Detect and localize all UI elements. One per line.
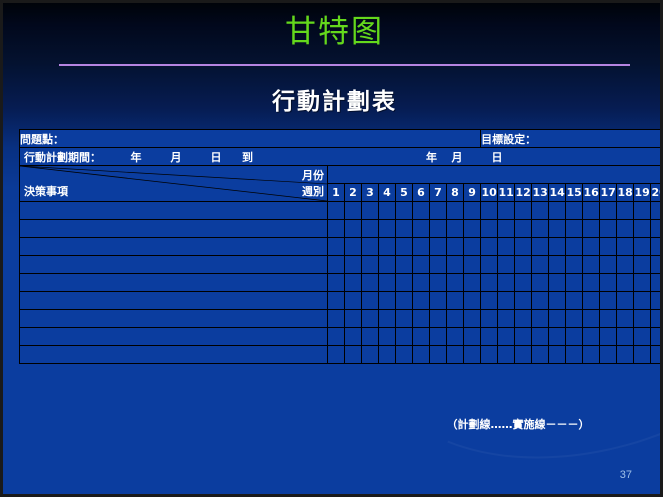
cell-week-15[interactable] — [566, 292, 583, 310]
cell-week-7[interactable] — [430, 346, 447, 364]
cell-week-11[interactable] — [498, 256, 515, 274]
cell-week-16[interactable] — [583, 274, 600, 292]
week-header-8: 8 — [447, 184, 464, 202]
cell-week-16[interactable] — [583, 328, 600, 346]
cell-week-6[interactable] — [413, 220, 430, 238]
cell-week-18[interactable] — [617, 292, 634, 310]
cell-week-4[interactable] — [379, 220, 396, 238]
cell-week-5[interactable] — [396, 292, 413, 310]
cell-week-10[interactable] — [481, 292, 498, 310]
table-row — [20, 256, 663, 274]
table-row — [20, 292, 663, 310]
cell-week-9[interactable] — [464, 202, 481, 220]
cell-week-18[interactable] — [617, 202, 634, 220]
cell-week-10[interactable] — [481, 256, 498, 274]
cell-week-10[interactable] — [481, 328, 498, 346]
cell-week-10[interactable] — [481, 238, 498, 256]
cell-week-6[interactable] — [413, 292, 430, 310]
cell-week-14[interactable] — [549, 328, 566, 346]
cell-week-17[interactable] — [600, 256, 617, 274]
cell-week-7[interactable] — [430, 310, 447, 328]
cell-week-1[interactable] — [328, 310, 345, 328]
cell-week-4[interactable] — [379, 256, 396, 274]
cell-week-8[interactable] — [447, 346, 464, 364]
end-year-label: 年 — [272, 149, 437, 165]
week-header-4: 4 — [379, 184, 396, 202]
cell-week-18[interactable] — [617, 220, 634, 238]
cell-week-2[interactable] — [345, 274, 362, 292]
cell-week-4[interactable] — [379, 310, 396, 328]
cell-week-15[interactable] — [566, 346, 583, 364]
cell-week-13[interactable] — [532, 274, 549, 292]
table-row — [20, 220, 663, 238]
cell-week-9[interactable] — [464, 238, 481, 256]
cell-week-13[interactable] — [532, 310, 549, 328]
table-row — [20, 310, 663, 328]
cell-week-15[interactable] — [566, 202, 583, 220]
period-connector: 到 — [236, 149, 272, 165]
cell-week-14[interactable] — [549, 238, 566, 256]
cell-week-3[interactable] — [362, 292, 379, 310]
slide-subtitle: 行動計劃表 — [3, 87, 663, 117]
cell-week-20[interactable] — [651, 274, 663, 292]
cell-week-10[interactable] — [481, 310, 498, 328]
cell-week-18[interactable] — [617, 256, 634, 274]
cell-week-5[interactable] — [396, 274, 413, 292]
cell-week-7[interactable] — [430, 274, 447, 292]
cell-week-10[interactable] — [481, 220, 498, 238]
cell-week-18[interactable] — [617, 328, 634, 346]
cell-week-17[interactable] — [600, 220, 617, 238]
week-header-11: 11 — [498, 184, 515, 202]
cell-week-14[interactable] — [549, 346, 566, 364]
cell-week-12[interactable] — [515, 310, 532, 328]
cell-week-5[interactable] — [396, 202, 413, 220]
cell-week-1[interactable] — [328, 202, 345, 220]
cell-week-1[interactable] — [328, 220, 345, 238]
cell-week-12[interactable] — [515, 238, 532, 256]
corner-item-label: 決策事項 — [24, 183, 68, 199]
cell-decision-item[interactable] — [20, 256, 328, 274]
slide-title: 甘特图 — [3, 11, 663, 53]
cell-week-4[interactable] — [379, 328, 396, 346]
cell-decision-item[interactable] — [20, 328, 328, 346]
cell-week-15[interactable] — [566, 328, 583, 346]
cell-decision-item[interactable] — [20, 310, 328, 328]
cell-week-4[interactable] — [379, 292, 396, 310]
cell-week-14[interactable] — [549, 202, 566, 220]
cell-week-4[interactable] — [379, 274, 396, 292]
cell-week-13[interactable] — [532, 220, 549, 238]
cell-week-19[interactable] — [634, 256, 651, 274]
cell-week-6[interactable] — [413, 256, 430, 274]
cell-week-3[interactable] — [362, 274, 379, 292]
cell-week-6[interactable] — [413, 274, 430, 292]
cell-decision-item[interactable] — [20, 346, 328, 364]
cell-week-16[interactable] — [583, 202, 600, 220]
cell-week-12[interactable] — [515, 292, 532, 310]
cell-week-13[interactable] — [532, 346, 549, 364]
cell-week-8[interactable] — [447, 292, 464, 310]
start-year-label: 年 — [116, 149, 156, 165]
cell-week-2[interactable] — [345, 346, 362, 364]
cell-week-12[interactable] — [515, 220, 532, 238]
row-month-header: 月份週別決策事項負責人成本 — [20, 166, 663, 184]
cell-week-12[interactable] — [515, 274, 532, 292]
cell-week-8[interactable] — [447, 310, 464, 328]
cell-week-5[interactable] — [396, 310, 413, 328]
cell-week-2[interactable] — [345, 220, 362, 238]
week-header-3: 3 — [362, 184, 379, 202]
week-header-13: 13 — [532, 184, 549, 202]
cell-week-2[interactable] — [345, 310, 362, 328]
cell-week-15[interactable] — [566, 256, 583, 274]
legend-footnote: （計劃線……實施線－－－） — [403, 416, 633, 432]
cell-week-9[interactable] — [464, 274, 481, 292]
cell-corner-header: 月份週別決策事項 — [20, 166, 328, 202]
cell-week-10[interactable] — [481, 274, 498, 292]
cell-week-13[interactable] — [532, 256, 549, 274]
end-day-label: 日 — [477, 149, 517, 165]
cell-week-2[interactable] — [345, 292, 362, 310]
cell-week-8[interactable] — [447, 274, 464, 292]
cell-week-20[interactable] — [651, 292, 663, 310]
cell-week-8[interactable] — [447, 202, 464, 220]
week-header-1: 1 — [328, 184, 345, 202]
cell-week-11[interactable] — [498, 310, 515, 328]
cell-week-14[interactable] — [549, 220, 566, 238]
cell-week-16[interactable] — [583, 292, 600, 310]
cell-week-19[interactable] — [634, 310, 651, 328]
cell-week-17[interactable] — [600, 346, 617, 364]
cell-week-14[interactable] — [549, 274, 566, 292]
cell-week-20[interactable] — [651, 220, 663, 238]
cell-week-11[interactable] — [498, 346, 515, 364]
cell-week-20[interactable] — [651, 328, 663, 346]
cell-week-5[interactable] — [396, 346, 413, 364]
week-header-7: 7 — [430, 184, 447, 202]
week-header-6: 6 — [413, 184, 430, 202]
week-header-2: 2 — [345, 184, 362, 202]
cell-week-14[interactable] — [549, 256, 566, 274]
cell-week-19[interactable] — [634, 202, 651, 220]
table-row — [20, 238, 663, 256]
table-row — [20, 346, 663, 364]
cell-week-13[interactable] — [532, 292, 549, 310]
cell-week-17[interactable] — [600, 310, 617, 328]
week-header-15: 15 — [566, 184, 583, 202]
cell-week-16[interactable] — [583, 256, 600, 274]
cell-week-5[interactable] — [396, 256, 413, 274]
cell-week-3[interactable] — [362, 202, 379, 220]
cell-week-16[interactable] — [583, 238, 600, 256]
table-row — [20, 202, 663, 220]
cell-week-14[interactable] — [549, 310, 566, 328]
cell-week-9[interactable] — [464, 256, 481, 274]
cell-week-11[interactable] — [498, 328, 515, 346]
cell-week-11[interactable] — [498, 202, 515, 220]
cell-week-16[interactable] — [583, 346, 600, 364]
row-plan-period: 行動計劃期間：年月日到年月日 — [20, 148, 663, 166]
cell-week-9[interactable] — [464, 220, 481, 238]
cell-week-17[interactable] — [600, 328, 617, 346]
start-month-label: 月 — [156, 149, 196, 165]
cell-week-17[interactable] — [600, 202, 617, 220]
cell-week-18[interactable] — [617, 346, 634, 364]
cell-week-7[interactable] — [430, 292, 447, 310]
week-header-20: 20 — [651, 184, 663, 202]
cell-week-20[interactable] — [651, 310, 663, 328]
cell-week-19[interactable] — [634, 274, 651, 292]
week-header-16: 16 — [583, 184, 600, 202]
cell-week-13[interactable] — [532, 202, 549, 220]
page-number: 37 — [620, 469, 632, 481]
cell-week-8[interactable] — [447, 220, 464, 238]
week-header-5: 5 — [396, 184, 413, 202]
cell-week-16[interactable] — [583, 310, 600, 328]
cell-week-14[interactable] — [549, 292, 566, 310]
cell-week-4[interactable] — [379, 238, 396, 256]
cell-week-2[interactable] — [345, 202, 362, 220]
cell-week-5[interactable] — [396, 328, 413, 346]
cell-week-9[interactable] — [464, 346, 481, 364]
cell-week-8[interactable] — [447, 238, 464, 256]
cell-goal-setting[interactable]: 目標設定： — [481, 130, 663, 148]
cell-week-7[interactable] — [430, 256, 447, 274]
cell-week-17[interactable] — [600, 238, 617, 256]
table-row — [20, 274, 663, 292]
cell-week-3[interactable] — [362, 256, 379, 274]
cell-week-6[interactable] — [413, 202, 430, 220]
cell-week-9[interactable] — [464, 328, 481, 346]
week-header-19: 19 — [634, 184, 651, 202]
cell-week-1[interactable] — [328, 238, 345, 256]
slide-canvas: 甘特图 行動計劃表 問題點：目標設定：行動計劃期間：年月日到年月日月份週別決策事… — [0, 0, 663, 497]
corner-month-label: 月份 — [302, 167, 324, 183]
cell-decision-item[interactable] — [20, 220, 328, 238]
cell-week-12[interactable] — [515, 346, 532, 364]
cell-week-15[interactable] — [566, 274, 583, 292]
cell-week-2[interactable] — [345, 328, 362, 346]
cell-week-1[interactable] — [328, 292, 345, 310]
cell-week-10[interactable] — [481, 346, 498, 364]
cell-week-20[interactable] — [651, 346, 663, 364]
cell-week-18[interactable] — [617, 274, 634, 292]
cell-week-1[interactable] — [328, 346, 345, 364]
start-day-label: 日 — [196, 149, 236, 165]
cell-week-6[interactable] — [413, 346, 430, 364]
cell-week-7[interactable] — [430, 238, 447, 256]
cell-decision-item[interactable] — [20, 238, 328, 256]
cell-week-13[interactable] — [532, 238, 549, 256]
cell-week-2[interactable] — [345, 256, 362, 274]
table-row — [20, 328, 663, 346]
cell-week-19[interactable] — [634, 346, 651, 364]
cell-week-3[interactable] — [362, 238, 379, 256]
cell-week-20[interactable] — [651, 202, 663, 220]
end-month-label: 月 — [437, 149, 477, 165]
cell-week-9[interactable] — [464, 310, 481, 328]
cell-week-18[interactable] — [617, 238, 634, 256]
cell-week-19[interactable] — [634, 328, 651, 346]
cell-plan-period[interactable]: 行動計劃期間：年月日到年月日 — [20, 148, 663, 166]
week-header-10: 10 — [481, 184, 498, 202]
cell-week-20[interactable] — [651, 238, 663, 256]
cell-decision-item[interactable] — [20, 292, 328, 310]
cell-week-9[interactable] — [464, 292, 481, 310]
cell-week-3[interactable] — [362, 220, 379, 238]
cell-week-3[interactable] — [362, 346, 379, 364]
cell-week-3[interactable] — [362, 328, 379, 346]
cell-decision-item[interactable] — [20, 274, 328, 292]
cell-week-1[interactable] — [328, 256, 345, 274]
cell-week-18[interactable] — [617, 310, 634, 328]
cell-week-11[interactable] — [498, 292, 515, 310]
cell-week-1[interactable] — [328, 328, 345, 346]
cell-week-10[interactable] — [481, 202, 498, 220]
cell-week-5[interactable] — [396, 238, 413, 256]
cell-decision-item[interactable] — [20, 202, 328, 220]
cell-week-19[interactable] — [634, 238, 651, 256]
cell-week-7[interactable] — [430, 202, 447, 220]
week-header-17: 17 — [600, 184, 617, 202]
cell-week-17[interactable] — [600, 292, 617, 310]
cell-week-6[interactable] — [413, 310, 430, 328]
cell-week-16[interactable] — [583, 220, 600, 238]
cell-week-11[interactable] — [498, 274, 515, 292]
cell-week-4[interactable] — [379, 202, 396, 220]
cell-week-4[interactable] — [379, 346, 396, 364]
cell-week-2[interactable] — [345, 238, 362, 256]
cell-week-19[interactable] — [634, 292, 651, 310]
cell-week-6[interactable] — [413, 238, 430, 256]
cell-problem-point[interactable]: 問題點： — [20, 130, 481, 148]
week-header-12: 12 — [515, 184, 532, 202]
week-header-14: 14 — [549, 184, 566, 202]
row-problem-goal: 問題點：目標設定： — [20, 130, 663, 148]
cell-week-20[interactable] — [651, 256, 663, 274]
cell-week-8[interactable] — [447, 328, 464, 346]
cell-week-8[interactable] — [447, 256, 464, 274]
action-plan-table: 問題點：目標設定：行動計劃期間：年月日到年月日月份週別決策事項負責人成本1234… — [19, 129, 663, 364]
cell-week-6[interactable] — [413, 328, 430, 346]
cell-week-12[interactable] — [515, 256, 532, 274]
plan-period-label: 行動計劃期間： — [24, 149, 116, 165]
cell-week-7[interactable] — [430, 328, 447, 346]
cell-week-12[interactable] — [515, 328, 532, 346]
week-header-18: 18 — [617, 184, 634, 202]
cell-week-19[interactable] — [634, 220, 651, 238]
title-divider-rule — [59, 64, 630, 66]
cell-month-band — [328, 166, 663, 184]
cell-week-13[interactable] — [532, 328, 549, 346]
cell-week-11[interactable] — [498, 220, 515, 238]
cell-week-7[interactable] — [430, 220, 447, 238]
cell-week-1[interactable] — [328, 274, 345, 292]
cell-week-11[interactable] — [498, 238, 515, 256]
week-header-9: 9 — [464, 184, 481, 202]
cell-week-15[interactable] — [566, 310, 583, 328]
cell-week-15[interactable] — [566, 220, 583, 238]
corner-week-label: 週別 — [302, 183, 324, 199]
cell-week-15[interactable] — [566, 238, 583, 256]
cell-week-12[interactable] — [515, 202, 532, 220]
cell-week-3[interactable] — [362, 310, 379, 328]
cell-week-5[interactable] — [396, 220, 413, 238]
cell-week-17[interactable] — [600, 274, 617, 292]
